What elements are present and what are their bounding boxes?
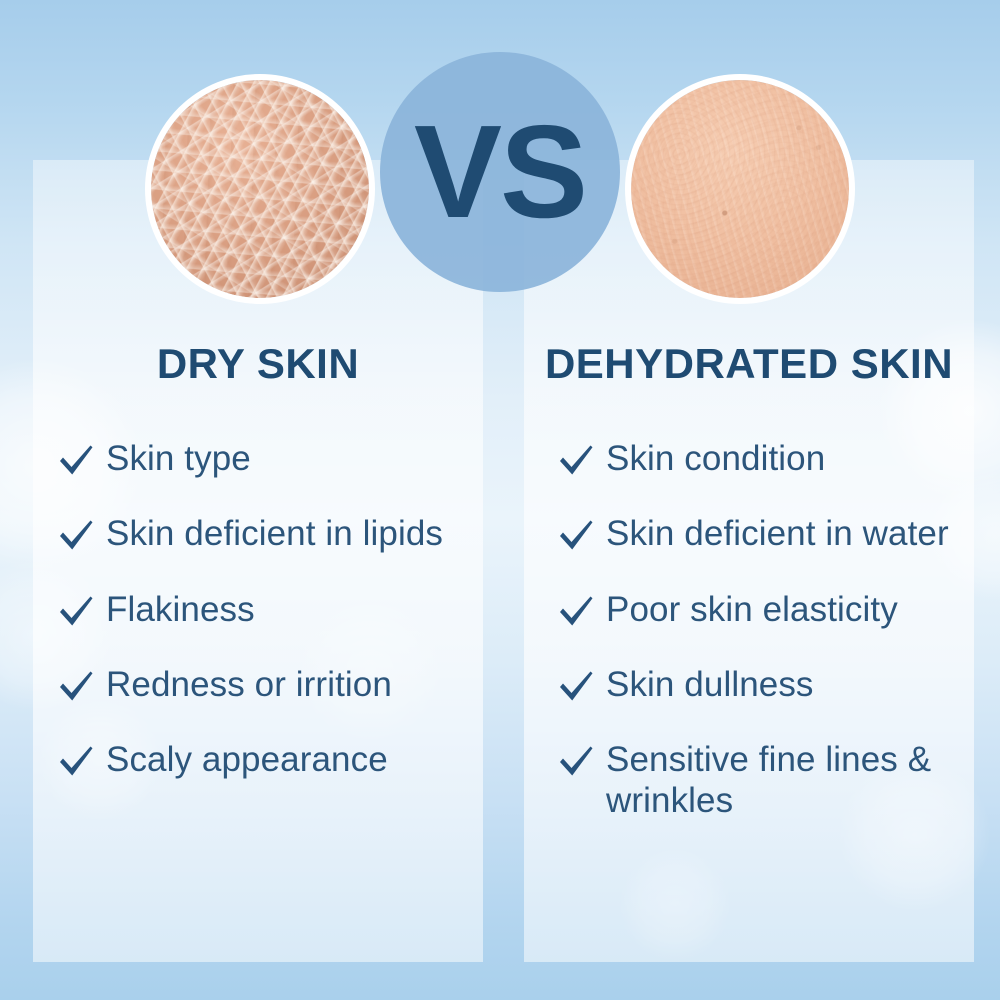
vs-badge-label: VS (380, 52, 620, 292)
check-icon (558, 519, 594, 553)
list-item-label: Poor skin elasticity (606, 589, 898, 630)
photo-dry-skin (145, 74, 375, 304)
list-item-label: Skin deficient in water (606, 513, 949, 554)
feature-list-dehydrated-skin: Skin condition Skin deficient in water P… (558, 438, 978, 856)
list-item-label: Skin condition (606, 438, 825, 479)
list-item: Skin deficient in lipids (58, 513, 478, 554)
dry-skin-texture (151, 80, 369, 298)
list-item-label: Skin dullness (606, 664, 814, 705)
check-icon (58, 595, 94, 629)
list-item: Skin condition (558, 438, 978, 479)
feature-list-dry-skin: Skin type Skin deficient in lipids Flaki… (58, 438, 478, 814)
check-icon (558, 745, 594, 779)
heading-dehydrated-skin: DEHYDRATED SKIN (524, 340, 974, 388)
list-item: Flakiness (58, 589, 478, 630)
list-item-label: Skin type (106, 438, 251, 479)
check-icon (558, 670, 594, 704)
list-item: Skin deficient in water (558, 513, 978, 554)
dehydrated-skin-texture (631, 80, 849, 298)
list-item-label: Sensitive fine lines & wrinkles (606, 739, 978, 822)
list-item: Sensitive fine lines & wrinkles (558, 739, 978, 822)
list-item: Poor skin elasticity (558, 589, 978, 630)
check-icon (58, 519, 94, 553)
list-item-label: Redness or irrition (106, 664, 392, 705)
list-item-label: Scaly appearance (106, 739, 388, 780)
list-item-label: Skin deficient in lipids (106, 513, 443, 554)
check-icon (58, 670, 94, 704)
infographic-canvas: VS DRY SKIN DEHYDRATED SKIN Skin type Sk… (0, 0, 1000, 1000)
check-icon (58, 745, 94, 779)
heading-dry-skin: DRY SKIN (33, 340, 483, 388)
list-item-label: Flakiness (106, 589, 255, 630)
list-item: Redness or irrition (58, 664, 478, 705)
check-icon (58, 444, 94, 478)
photo-dehydrated-skin (625, 74, 855, 304)
list-item: Skin dullness (558, 664, 978, 705)
list-item: Skin type (58, 438, 478, 479)
check-icon (558, 444, 594, 478)
check-icon (558, 595, 594, 629)
list-item: Scaly appearance (58, 739, 478, 780)
